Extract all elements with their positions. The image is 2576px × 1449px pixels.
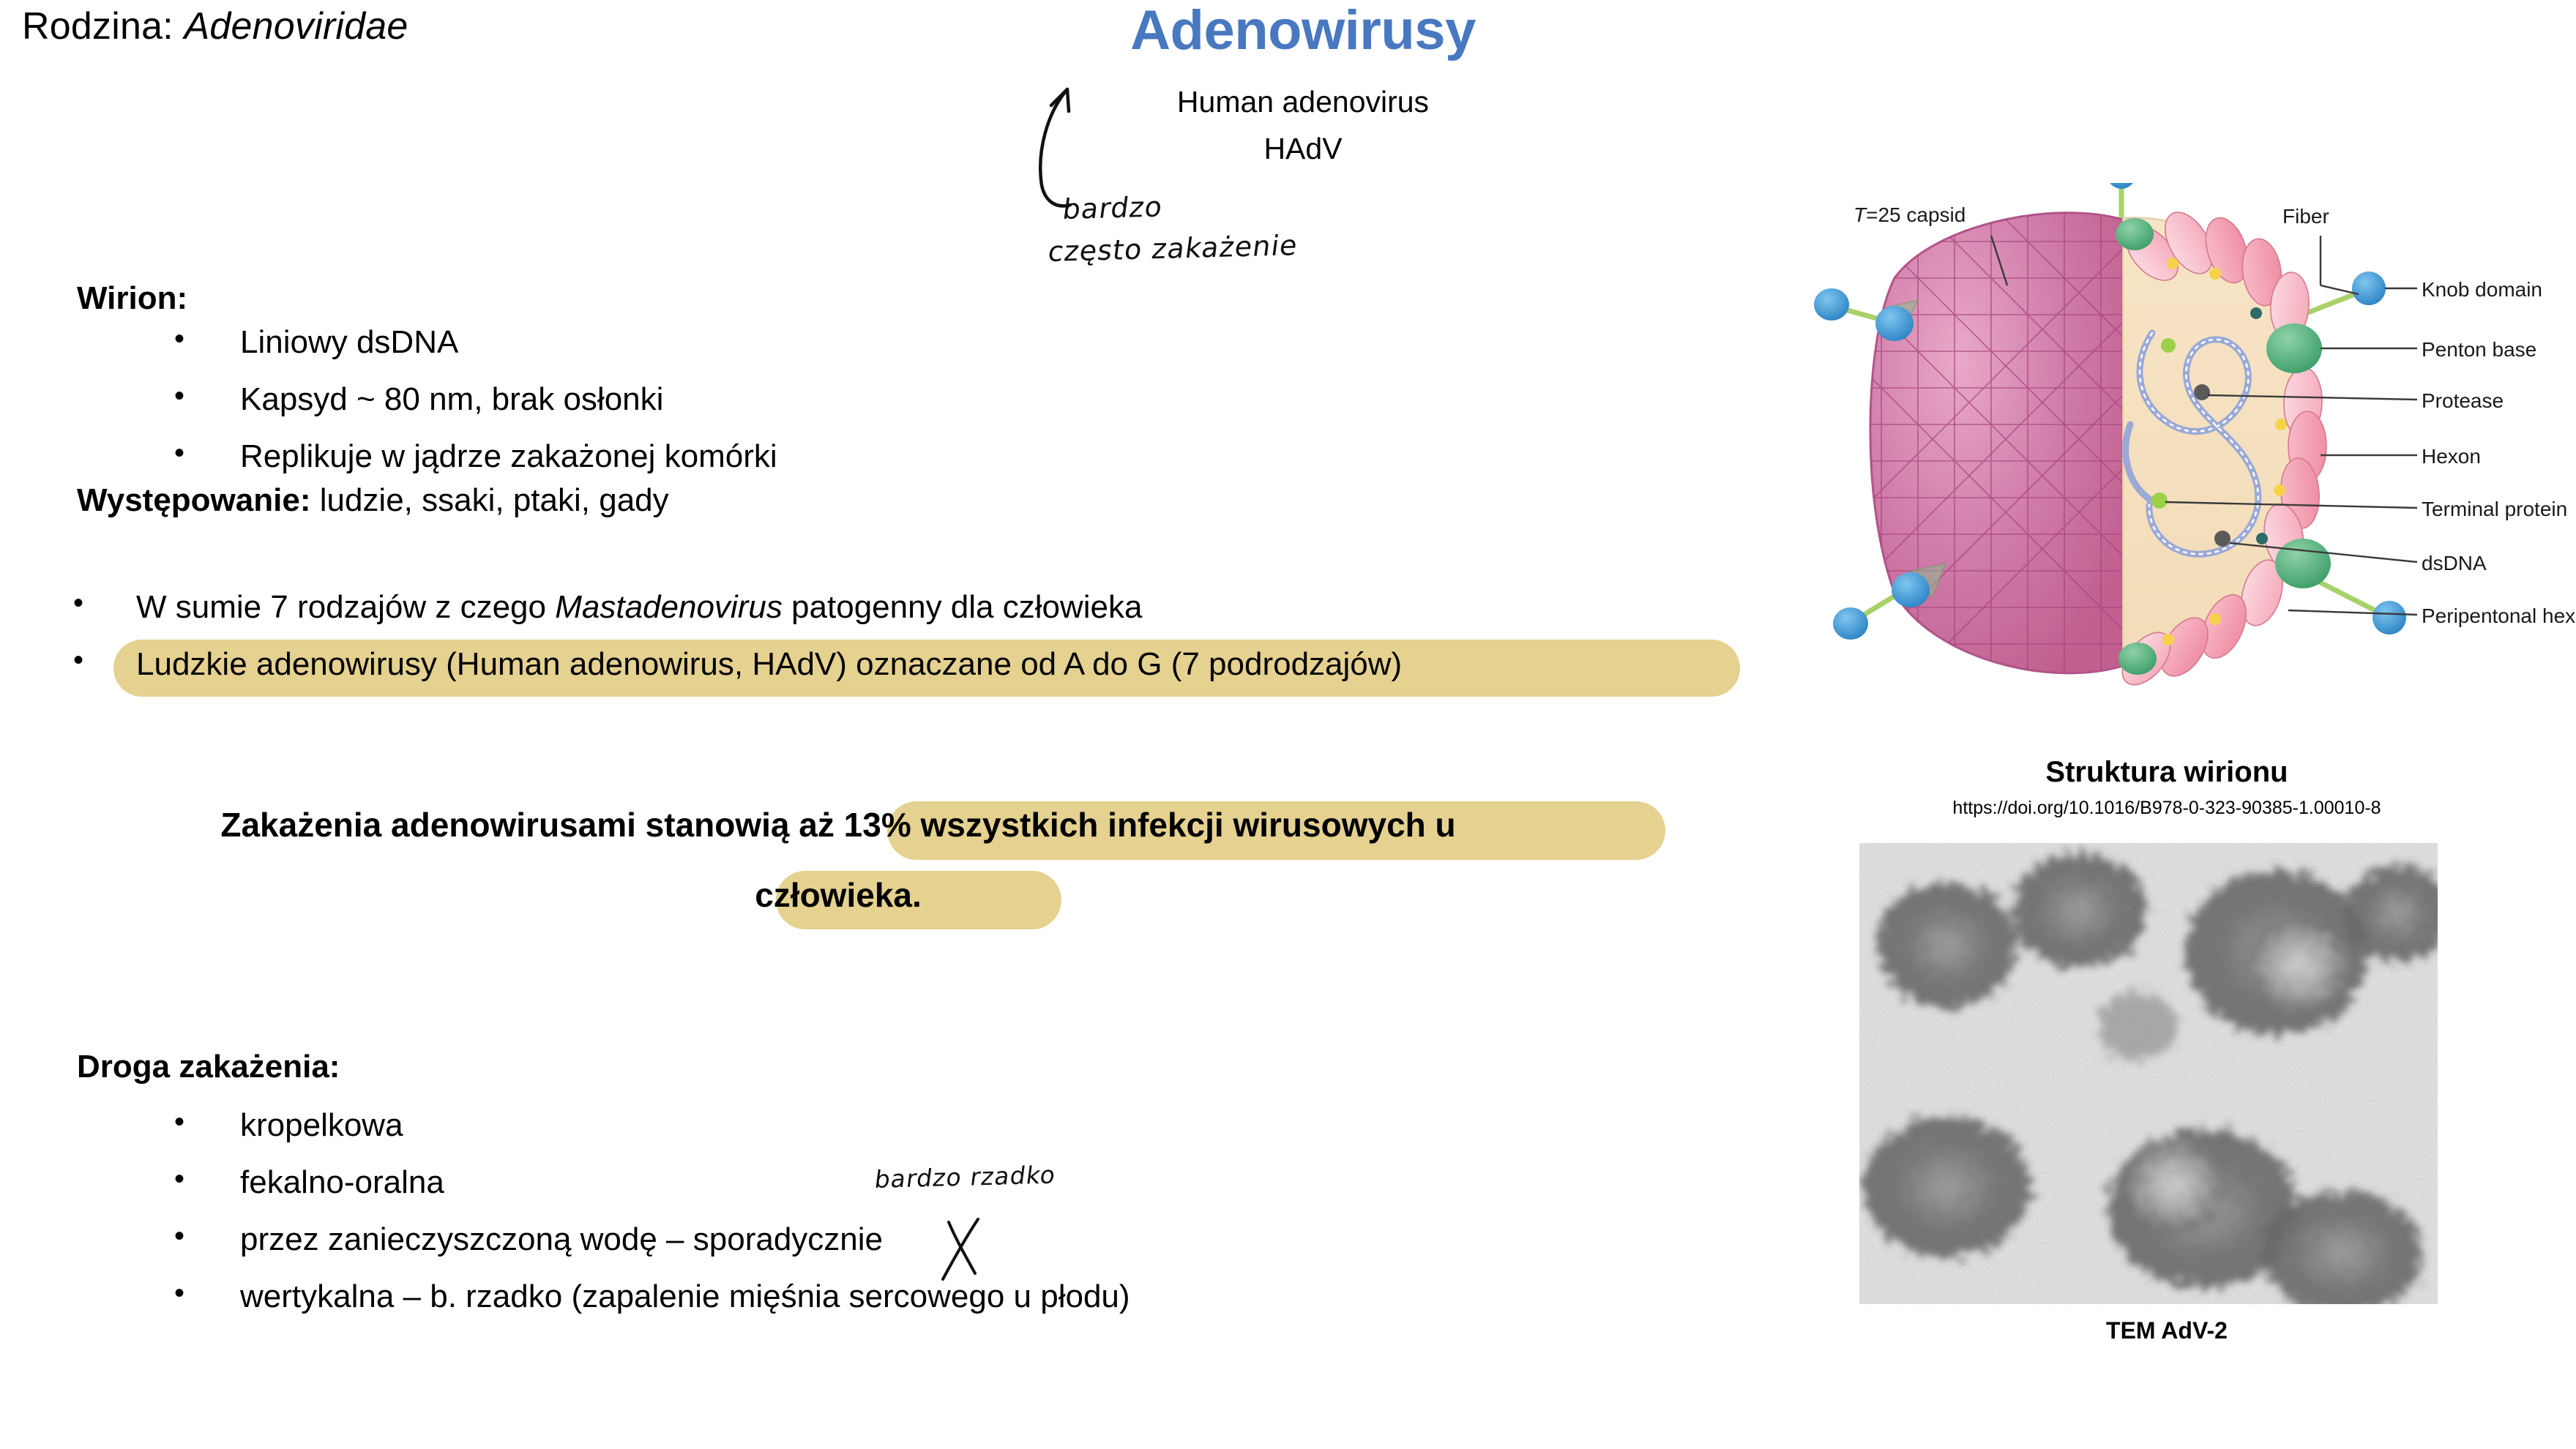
list-item: • kropelkowa — [174, 1107, 403, 1144]
family-line: Rodzina: Adenoviridae — [22, 4, 408, 48]
virion-structure-diagram: T=25 capsid Fiber Knob domain Penton bas… — [1808, 183, 2569, 688]
bullet-dot-icon: • — [174, 380, 184, 413]
label-dsdna: dsDNA — [2422, 552, 2487, 575]
wirion-bullet-3: Replikuje w jądrze zakażonej komórki — [240, 438, 777, 475]
bullet-dot-icon: • — [174, 1220, 184, 1253]
wystepowanie-line: Występowanie: ludzie, ssaki, ptaki, gady — [77, 484, 669, 517]
page-title: Adenowirusy — [1047, 0, 1559, 62]
slide-canvas: Rodzina: Adenoviridae Adenowirusy Human … — [0, 0, 2576, 1449]
top-bullet-1-part1: W sumie 7 rodzajów z czego — [136, 589, 555, 625]
bullet-dot-icon: • — [174, 1163, 184, 1196]
droga-bullet-3: przez zanieczyszczoną wodę – sporadyczni… — [240, 1221, 883, 1258]
label-fiber: Fiber — [2282, 205, 2329, 228]
top-bullet-1: W sumie 7 rodzajów z czego Mastadenoviru… — [136, 589, 1142, 626]
list-item: • Ludzkie adenowirusy (Human adenowirus,… — [73, 646, 1402, 683]
list-item: • Liniowy dsDNA — [174, 324, 458, 361]
bullet-dot-icon: • — [174, 1277, 184, 1310]
family-label: Rodzina: — [22, 5, 173, 48]
handwritten-note-czesto-zakazenie: często zakażenie — [1046, 229, 1300, 268]
label-hexon: Hexon — [2422, 445, 2481, 468]
label-penton-base: Penton base — [2422, 338, 2536, 362]
handwritten-cross-out-icon — [937, 1215, 988, 1282]
bullet-dot-icon: • — [174, 1106, 184, 1139]
virion-figure-caption: Struktura wirionu — [1779, 756, 2555, 789]
handwritten-note-bardzo: bardzo — [1061, 190, 1165, 225]
handwritten-note-bardzo-rzadko: bardzo rzadko — [873, 1161, 1057, 1194]
family-name: Adenoviridae — [184, 5, 408, 48]
statistic-line-1: Zakażenia adenowirusami stanowią aż 13% … — [0, 805, 1676, 845]
label-terminal-protein: Terminal protein — [2422, 498, 2567, 521]
label-capsid-rest: =25 capsid — [1866, 203, 1965, 226]
wystepowanie-label: Występowanie: — [77, 482, 310, 518]
droga-bullet-4: wertykalna – b. rzadko (zapalenie mięśni… — [240, 1278, 1130, 1315]
label-capsid-italic-t: T — [1853, 203, 1866, 226]
bullet-dot-icon: • — [73, 644, 83, 677]
top-bullet-2: Ludzkie adenowirusy (Human adenowirus, H… — [136, 646, 1402, 683]
list-item: • wertykalna – b. rzadko (zapalenie mięś… — [174, 1278, 1130, 1315]
list-item: • przez zanieczyszczoną wodę – sporadycz… — [174, 1221, 883, 1258]
bullet-dot-icon: • — [174, 437, 184, 470]
list-item: • fekalno-oralna — [174, 1164, 444, 1201]
label-knob-domain: Knob domain — [2422, 278, 2542, 302]
droga-bullet-2: fekalno-oralna — [240, 1164, 444, 1201]
list-item: • W sumie 7 rodzajów z czego Mastadenovi… — [73, 589, 1142, 626]
statistic-line-2: człowieka. — [0, 875, 1676, 915]
list-item: • Kapsyd ~ 80 nm, brak osłonki — [174, 381, 663, 418]
label-protease: Protease — [2422, 389, 2504, 413]
list-item: • Replikuje w jądrze zakażonej komórki — [174, 438, 777, 475]
bullet-dot-icon: • — [73, 587, 83, 620]
droga-bullet-1: kropelkowa — [240, 1107, 403, 1144]
tem-micrograph-svg — [1859, 843, 2438, 1304]
label-peripentonal-hexon: Peripentonal hexon — [2422, 604, 2576, 628]
wystepowanie-value: ludzie, ssaki, ptaki, gady — [320, 482, 669, 518]
statistic-plain: Zakażenia adenowirusami stanowią aż — [220, 806, 843, 844]
subtitle-hadv: HAdV — [1047, 132, 1559, 166]
wirion-bullet-2: Kapsyd ~ 80 nm, brak osłonki — [240, 381, 663, 418]
top-bullet-1-genus: Mastadenovirus — [555, 589, 783, 625]
droga-heading: Droga zakażenia: — [77, 1050, 340, 1084]
statistic-highlighted: 13% wszystkich infekcji wirusowych u — [844, 806, 1456, 844]
tem-caption: TEM AdV-2 — [1779, 1317, 2555, 1344]
wirion-bullet-1: Liniowy dsDNA — [240, 324, 458, 361]
subtitle-human-adenovirus: Human adenovirus — [1047, 85, 1559, 119]
wirion-heading: Wirion: — [77, 282, 187, 315]
top-bullet-1-part2: patogenny dla człowieka — [783, 589, 1143, 625]
virion-figure-doi: https://doi.org/10.1016/B978-0-323-90385… — [1779, 798, 2555, 819]
tem-micrograph — [1859, 843, 2438, 1304]
label-t25-capsid: T=25 capsid — [1853, 203, 1965, 227]
bullet-dot-icon: • — [174, 323, 184, 356]
